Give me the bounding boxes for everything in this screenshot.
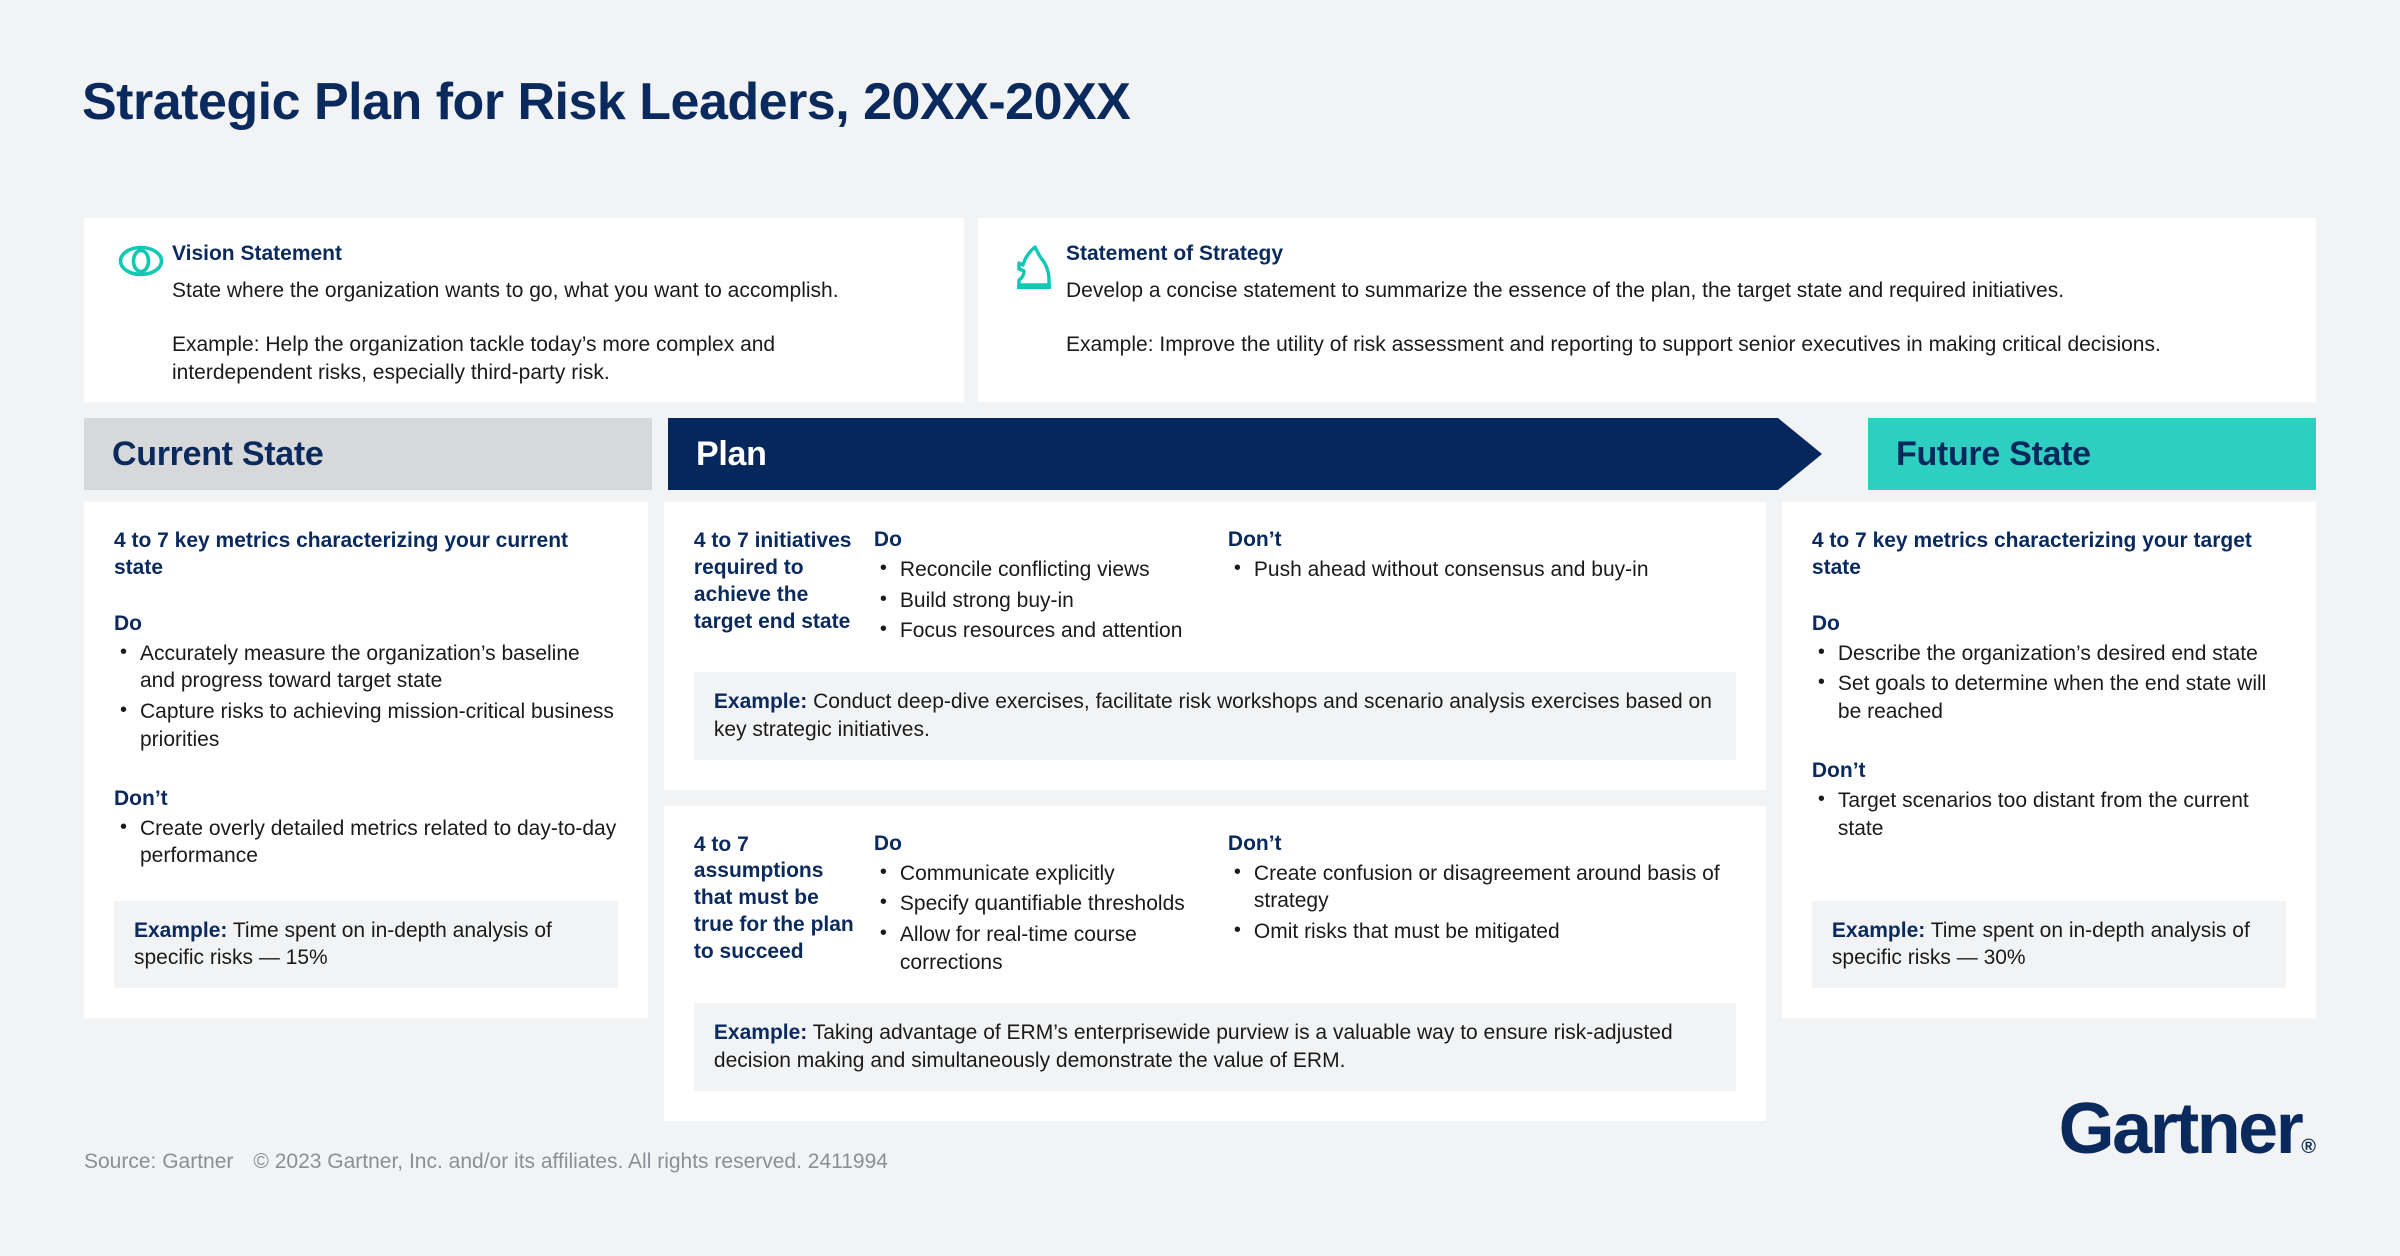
plan-assumptions-dont-list: Create confusion or disagreement around …	[1228, 860, 1736, 946]
footer-source-label: Source: Gartner	[84, 1150, 233, 1173]
plan-initiatives-title-col: 4 to 7 initiatives required to achieve t…	[694, 528, 874, 648]
list-item: Capture risks to achieving mission-criti…	[114, 698, 618, 753]
vision-statement-card: Vision Statement State where the organiz…	[84, 218, 964, 402]
list-item: Reconcile conflicting views	[874, 556, 1204, 584]
list-item: Allow for real-time course corrections	[874, 921, 1204, 976]
header-label-plan: Plan	[696, 435, 767, 474]
chess-knight-icon	[1004, 240, 1066, 380]
column-current-state: 4 to 7 key metrics characterizing your c…	[84, 502, 648, 1018]
statement-of-strategy-title: Statement of Strategy	[1066, 242, 2290, 266]
list-item: Push ahead without consensus and buy-in	[1228, 556, 1736, 584]
plan-initiatives-dont-list: Push ahead without consensus and buy-in	[1228, 556, 1736, 584]
plan-initiatives-section-title: 4 to 7 initiatives required to achieve t…	[694, 528, 860, 636]
eye-icon	[110, 240, 172, 380]
current-state-section-title: 4 to 7 key metrics characterizing your c…	[114, 528, 618, 582]
plan-assumptions-grid: 4 to 7 assumptions that must be true for…	[694, 832, 1736, 980]
header-label-future-state: Future State	[1896, 435, 2091, 474]
list-item: Omit risks that must be mitigated	[1228, 918, 1736, 946]
example-label: Example:	[1832, 919, 1925, 942]
list-item: Set goals to determine when the end stat…	[1812, 670, 2286, 725]
vision-statement-description: State where the organization wants to go…	[172, 277, 912, 305]
page-title: Strategic Plan for Risk Leaders, 20XX-20…	[82, 72, 1130, 132]
example-label: Example:	[134, 919, 227, 942]
list-item: Communicate explicitly	[874, 860, 1204, 888]
current-state-card: 4 to 7 key metrics characterizing your c…	[84, 502, 648, 1018]
column-headers: Current State Plan Future State	[84, 418, 2316, 490]
plan-assumptions-example: Example: Taking advantage of ERM’s enter…	[694, 1003, 1736, 1090]
plan-assumptions-section-title: 4 to 7 assumptions that must be true for…	[694, 832, 860, 966]
list-item: Focus resources and attention	[874, 617, 1204, 645]
current-state-dont-list: Create overly detailed metrics related t…	[114, 815, 618, 870]
columns-body: 4 to 7 key metrics characterizing your c…	[84, 502, 2316, 1121]
current-state-do-list: Accurately measure the organization’s ba…	[114, 640, 618, 754]
column-plan: 4 to 7 initiatives required to achieve t…	[664, 502, 1766, 1121]
list-item: Create overly detailed metrics related t…	[114, 815, 618, 870]
statement-cards-row: Vision Statement State where the organiz…	[84, 218, 2316, 402]
header-label-current-state: Current State	[112, 435, 323, 474]
header-bar-current-state: Current State	[84, 418, 652, 490]
current-state-do-group: Do Accurately measure the organization’s…	[114, 612, 618, 757]
plan-initiatives-dont-label: Don’t	[1228, 528, 1736, 552]
list-item: Specify quantifiable thresholds	[874, 890, 1204, 918]
list-item: Create confusion or disagreement around …	[1228, 860, 1736, 915]
plan-initiatives-dont-col: Don’t Push ahead without consensus and b…	[1204, 528, 1736, 648]
current-state-do-label: Do	[114, 612, 618, 636]
plan-initiatives-do-list: Reconcile conflicting views Build strong…	[874, 556, 1204, 645]
vision-statement-title: Vision Statement	[172, 242, 938, 266]
plan-assumptions-dont-col: Don’t Create confusion or disagreement a…	[1204, 832, 1736, 980]
future-state-do-group: Do Describe the organization’s desired e…	[1812, 612, 2286, 729]
plan-assumptions-do-list: Communicate explicitly Specify quantifia…	[874, 860, 1204, 977]
statement-of-strategy-card: Statement of Strategy Develop a concise …	[978, 218, 2316, 402]
infographic-page: Strategic Plan for Risk Leaders, 20XX-20…	[0, 0, 2400, 1256]
plan-initiatives-do-col: Do Reconcile conflicting views Build str…	[874, 528, 1204, 648]
example-text: Conduct deep-dive exercises, facilitate …	[714, 690, 1712, 741]
plan-initiatives-card: 4 to 7 initiatives required to achieve t…	[664, 502, 1766, 790]
future-state-card: 4 to 7 key metrics characterizing your t…	[1782, 502, 2316, 1018]
future-state-do-list: Describe the organization’s desired end …	[1812, 640, 2286, 726]
current-state-example: Example: Time spent on in-depth analysis…	[114, 901, 618, 988]
example-label: Example:	[714, 1021, 807, 1044]
example-text: Taking advantage of ERM’s enterprisewide…	[714, 1021, 1673, 1072]
future-state-section-title: 4 to 7 key metrics characterizing your t…	[1812, 528, 2286, 582]
future-state-dont-label: Don’t	[1812, 759, 2286, 783]
future-state-dont-list: Target scenarios too distant from the cu…	[1812, 787, 2286, 842]
example-label: Example:	[714, 690, 807, 713]
column-future-state: 4 to 7 key metrics characterizing your t…	[1782, 502, 2316, 1018]
list-item: Build strong buy-in	[874, 587, 1204, 615]
plan-assumptions-card: 4 to 7 assumptions that must be true for…	[664, 806, 1766, 1121]
current-state-dont-group: Don’t Create overly detailed metrics rel…	[114, 787, 618, 873]
statement-of-strategy-example: Example: Improve the utility of risk ass…	[1066, 331, 2290, 359]
gartner-logo-text: Gartner	[2059, 1089, 2302, 1169]
current-state-dont-label: Don’t	[114, 787, 618, 811]
future-state-dont-group: Don’t Target scenarios too distant from …	[1812, 759, 2286, 845]
plan-assumptions-dont-label: Don’t	[1228, 832, 1736, 856]
plan-assumptions-do-label: Do	[874, 832, 1204, 856]
statement-of-strategy-description: Develop a concise statement to summarize…	[1066, 277, 2290, 305]
plan-initiatives-do-label: Do	[874, 528, 1204, 552]
plan-assumptions-do-col: Do Communicate explicitly Specify quanti…	[874, 832, 1204, 980]
header-bar-future-state: Future State	[1868, 418, 2316, 490]
future-state-do-label: Do	[1812, 612, 2286, 636]
header-bar-plan: Plan	[668, 418, 1778, 490]
registered-trademark-icon: ®	[2301, 1136, 2316, 1158]
footer-source: Source: Gartner© 2023 Gartner, Inc. and/…	[84, 1150, 888, 1174]
plan-initiatives-grid: 4 to 7 initiatives required to achieve t…	[694, 528, 1736, 648]
list-item: Target scenarios too distant from the cu…	[1812, 787, 2286, 842]
future-state-example: Example: Time spent on in-depth analysis…	[1812, 901, 2286, 988]
plan-initiatives-example: Example: Conduct deep-dive exercises, fa…	[694, 672, 1736, 759]
gartner-logo: Gartner®	[2059, 1093, 2316, 1165]
list-item: Accurately measure the organization’s ba…	[114, 640, 618, 695]
plan-assumptions-title-col: 4 to 7 assumptions that must be true for…	[694, 832, 874, 980]
footer-copyright: © 2023 Gartner, Inc. and/or its affiliat…	[253, 1150, 888, 1173]
list-item: Describe the organization’s desired end …	[1812, 640, 2286, 668]
vision-statement-example: Example: Help the organization tackle to…	[172, 331, 912, 387]
